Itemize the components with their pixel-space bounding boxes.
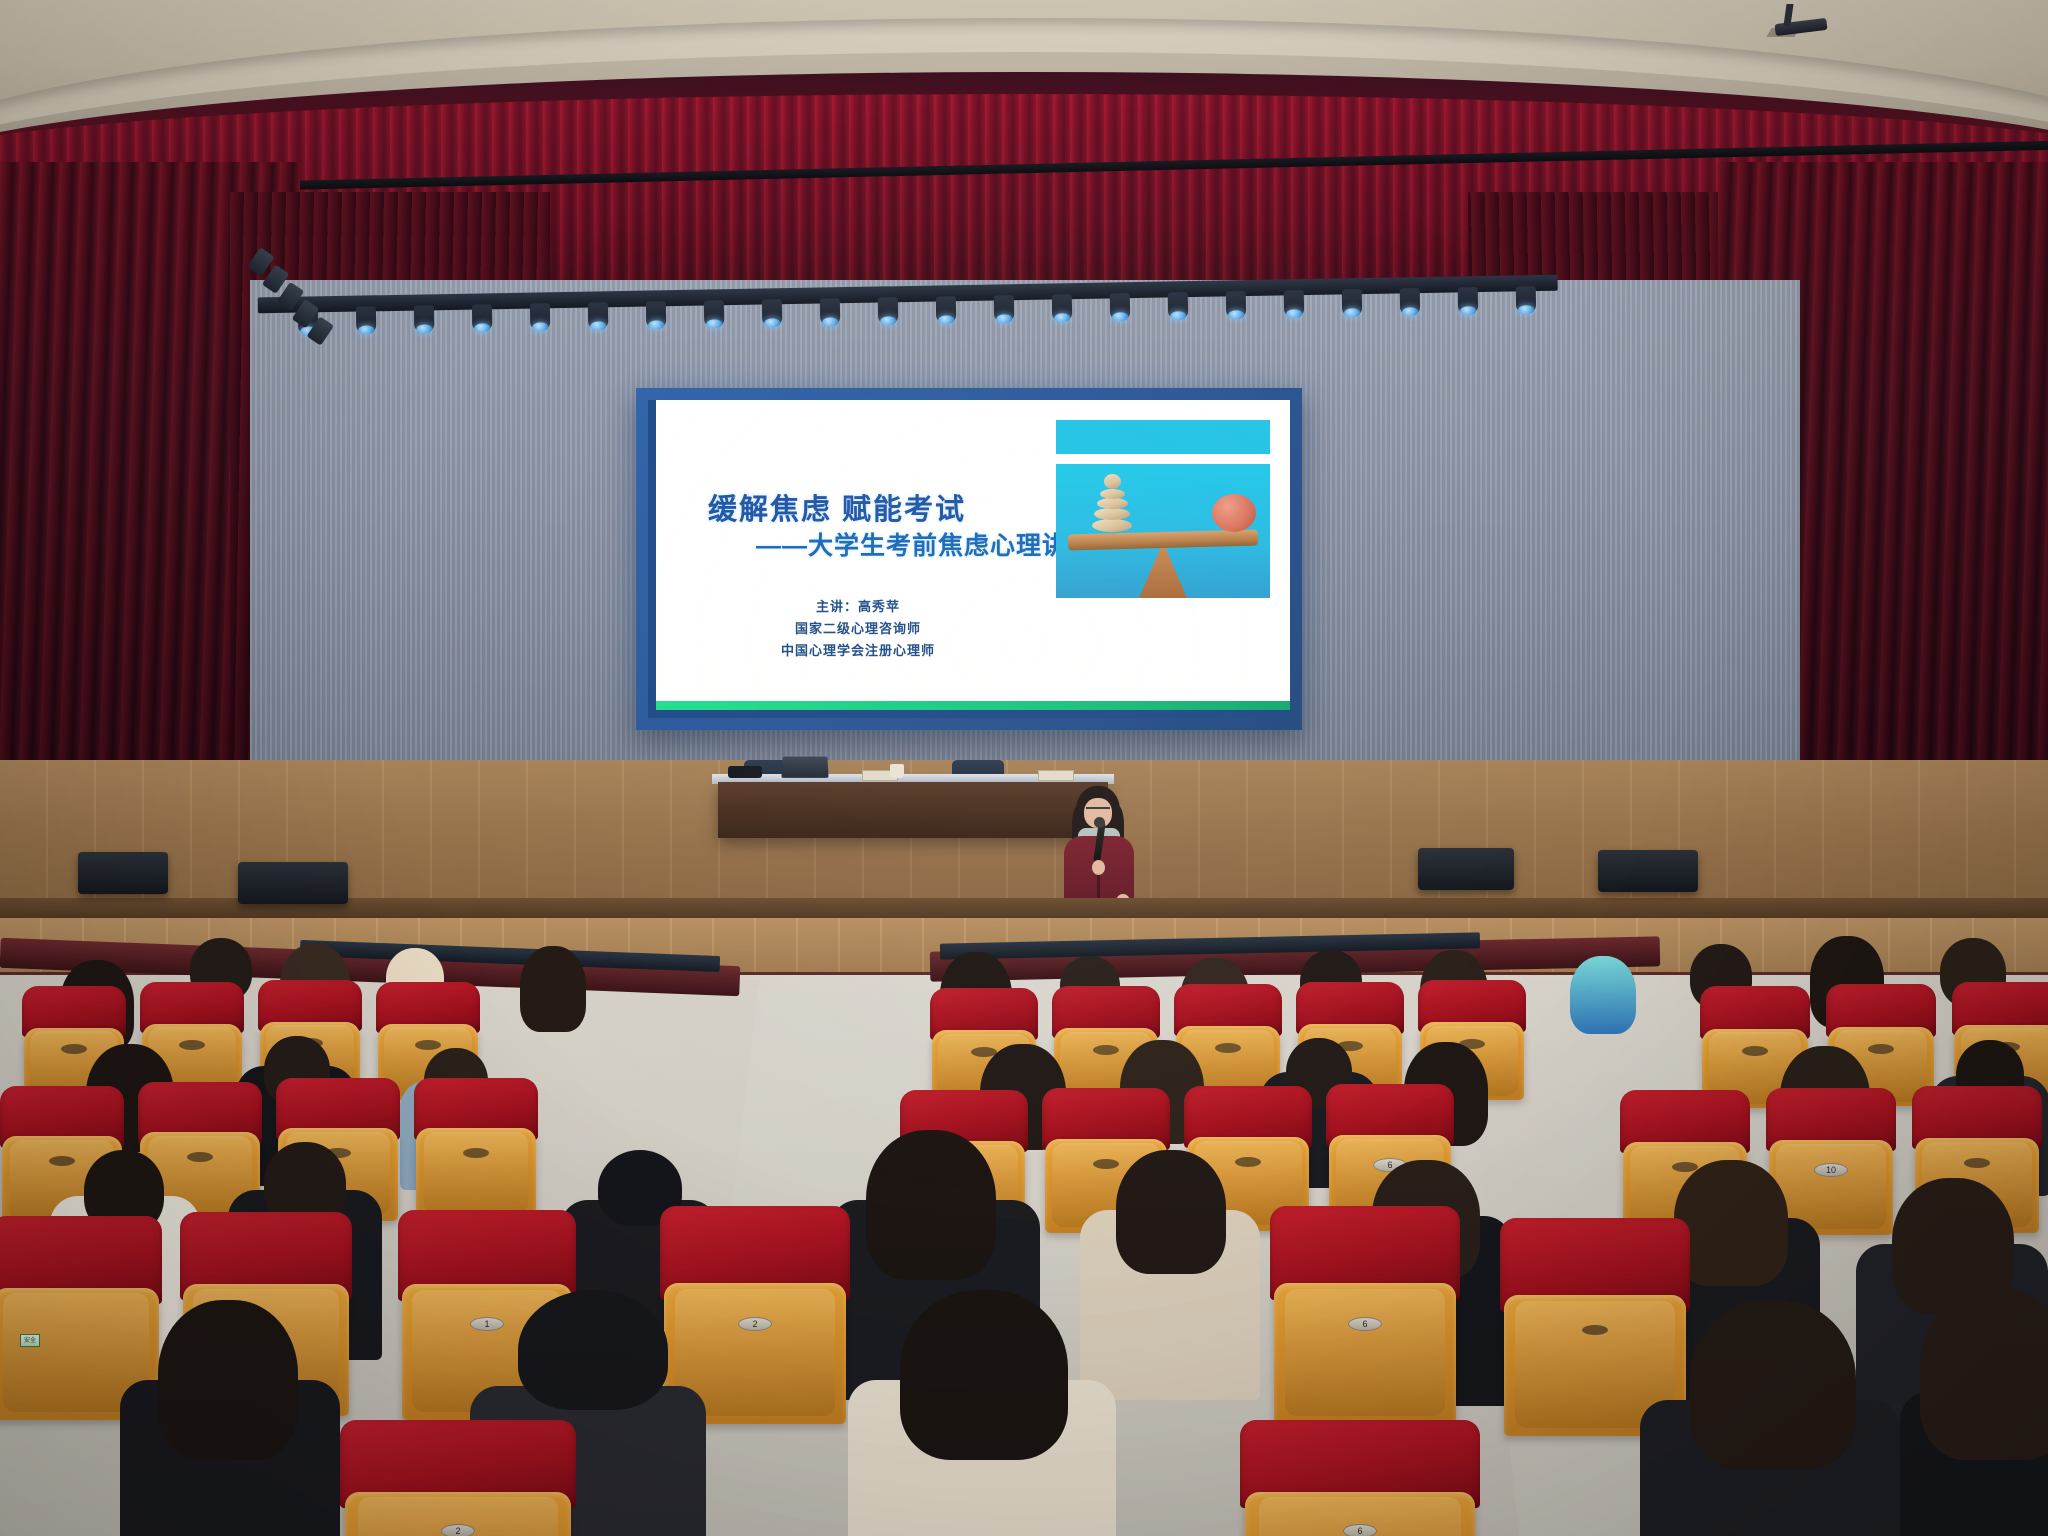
auditorium-photo: 缓解焦虑 赋能考试 ——大学生考前焦虑心理讲座 主讲：高秀苹 国家二级心理咨询师…: [0, 0, 2048, 1536]
laptop-icon: [781, 757, 828, 778]
floor-monitor-3: [1418, 848, 1514, 890]
seat-number-plate: 10: [1814, 1163, 1848, 1177]
auditorium-seat[interactable]: 2: [340, 1420, 576, 1536]
slide-accent-green: [656, 701, 1290, 710]
seat-number-plate: 2: [441, 1524, 475, 1536]
table-cup-icon: [890, 764, 904, 778]
glasses-icon: [1086, 807, 1110, 813]
stage-table: [718, 782, 1108, 838]
table-nameplate-right: [1038, 770, 1074, 781]
floor-monitor-4: [1598, 850, 1698, 892]
slide-credential-1: 国家二级心理咨询师: [648, 618, 1068, 640]
projection-screen: 缓解焦虑 赋能考试 ——大学生考前焦虑心理讲座 主讲：高秀苹 国家二级心理咨询师…: [636, 388, 1302, 730]
slide-image-band: [1056, 420, 1270, 454]
slide-title: 缓解焦虑 赋能考试: [708, 486, 966, 528]
auditorium-seat[interactable]: [414, 1078, 538, 1218]
slide-balance-image: [1056, 420, 1270, 598]
slide-canvas: 缓解焦虑 赋能考试 ——大学生考前焦虑心理讲座 主讲：高秀苹 国家二级心理咨询师…: [648, 400, 1290, 718]
slide-accent-bottom: [648, 710, 1290, 718]
floor-monitor-2: [238, 862, 348, 904]
floor-monitor-1: [78, 852, 168, 894]
auditorium-seat[interactable]: 6: [1240, 1420, 1480, 1536]
slide-speaker-name: 主讲：高秀苹: [648, 596, 1068, 618]
slide-subtitle: ——大学生考前焦虑心理讲座: [756, 526, 1094, 562]
seat-number-plate: 2: [738, 1317, 772, 1331]
balance-scale-icon: [1056, 464, 1270, 598]
ceiling-projector-icon: [1775, 4, 1827, 34]
seat-number-plate: 1: [470, 1317, 504, 1331]
slide-accent-left: [648, 400, 656, 718]
safety-tag: 安全: [20, 1334, 40, 1347]
table-device: [728, 766, 762, 778]
seat-number-plate: 6: [1348, 1317, 1382, 1331]
slide-credential-2: 中国心理学会注册心理师: [648, 640, 1068, 662]
slide-speaker-block: 主讲：高秀苹 国家二级心理咨询师 中国心理学会注册心理师: [648, 596, 1068, 662]
auditorium-seat[interactable]: 6: [1270, 1206, 1460, 1420]
seat-number-plate: 6: [1343, 1524, 1377, 1536]
